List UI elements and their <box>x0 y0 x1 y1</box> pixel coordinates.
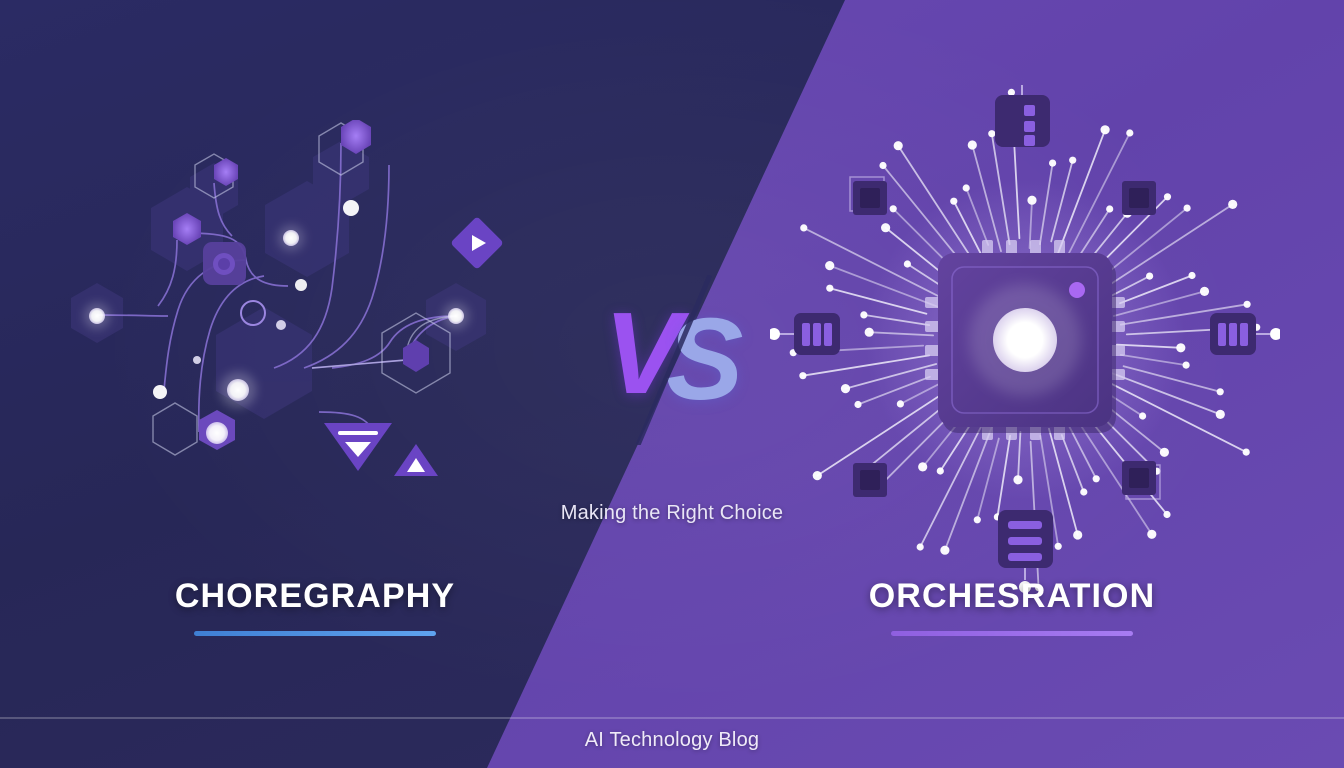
server-bars-icon <box>1210 313 1280 355</box>
left-title-block: CHOREGRAPHY <box>75 578 555 636</box>
right-title-block: ORCHESRATION <box>772 578 1252 636</box>
left-panel-title: CHOREGRAPHY <box>75 578 555 615</box>
left-title-underline <box>194 631 436 636</box>
footer-label: AI Technology Blog <box>0 729 1344 752</box>
right-panel-title: ORCHESRATION <box>772 578 1252 615</box>
filter-icon <box>324 423 392 471</box>
choreography-network-graphic <box>60 120 560 540</box>
square-outline-icon <box>850 177 887 215</box>
hexagon-halo-group <box>71 141 486 419</box>
square-outline-icon <box>1122 461 1160 499</box>
vs-badge: V S <box>600 295 750 425</box>
tagline: Making the Right Choice <box>0 502 1344 525</box>
square-outline-icon <box>853 463 887 497</box>
triangle-up-icon <box>394 444 438 476</box>
server-bars-icon <box>770 313 840 355</box>
chip-icon <box>938 253 1116 433</box>
right-title-underline <box>891 631 1133 636</box>
dots-panel-icon <box>995 85 1050 147</box>
play-icon <box>450 216 504 270</box>
footer-divider <box>0 717 1344 719</box>
infographic-canvas: V S Making the Right Choice CHOREGRAPHY … <box>0 0 1344 768</box>
square-outline-icon <box>1122 181 1156 215</box>
rounded-square-node <box>203 242 246 285</box>
vs-letter-s: S <box>666 301 739 417</box>
